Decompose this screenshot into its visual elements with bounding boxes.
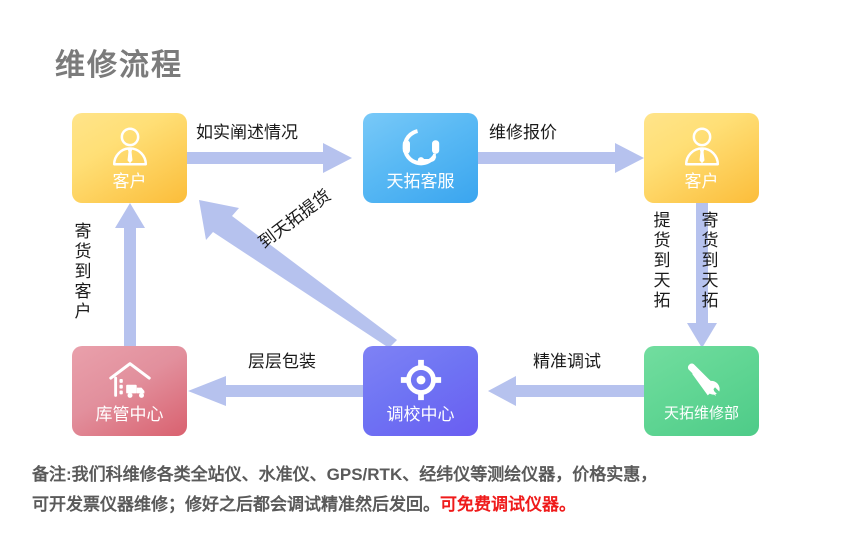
arrow-quote — [478, 143, 644, 173]
warehouse-truck-icon — [107, 357, 153, 403]
person-icon — [107, 124, 153, 170]
node-warehouse[interactable]: 库管中心 — [72, 346, 187, 436]
node-service[interactable]: 天拓客服 — [363, 113, 478, 203]
crosshair-gear-icon — [398, 357, 444, 403]
arrow-label-quote: 维修报价 — [489, 123, 557, 143]
node-label: 天拓维修部 — [664, 405, 739, 423]
person-icon — [679, 124, 725, 170]
wrench-screwdriver-icon — [679, 357, 725, 403]
node-customer-2[interactable]: 客户 — [644, 113, 759, 203]
node-customer-1[interactable]: 客户 — [72, 113, 187, 203]
flowchart-canvas: 维修流程 — [0, 0, 855, 550]
arrow-label-send-to: 寄货到天拓 — [700, 211, 720, 311]
node-label: 客户 — [685, 172, 719, 192]
headset-icon — [398, 124, 444, 170]
node-label: 天拓客服 — [387, 172, 455, 192]
arrow-label-ship-to-customer: 寄货到客户 — [73, 222, 93, 322]
arrow-tune — [488, 376, 644, 406]
node-label: 调校中心 — [387, 405, 455, 425]
arrow-ship-to-customer — [115, 203, 145, 346]
node-repair[interactable]: 天拓维修部 — [644, 346, 759, 436]
node-label: 客户 — [113, 172, 147, 192]
arrow-label-pack: 层层包装 — [248, 352, 316, 372]
arrow-explain — [187, 143, 352, 173]
arrow-pack — [188, 376, 363, 406]
arrow-layer — [0, 0, 855, 550]
arrow-label-explain: 如实阐述情况 — [196, 123, 298, 143]
node-label: 库管中心 — [96, 405, 164, 425]
arrow-label-tune: 精准调试 — [533, 352, 601, 372]
arrow-label-pickup: 提货到天拓 — [652, 211, 672, 311]
node-calibration[interactable]: 调校中心 — [363, 346, 478, 436]
